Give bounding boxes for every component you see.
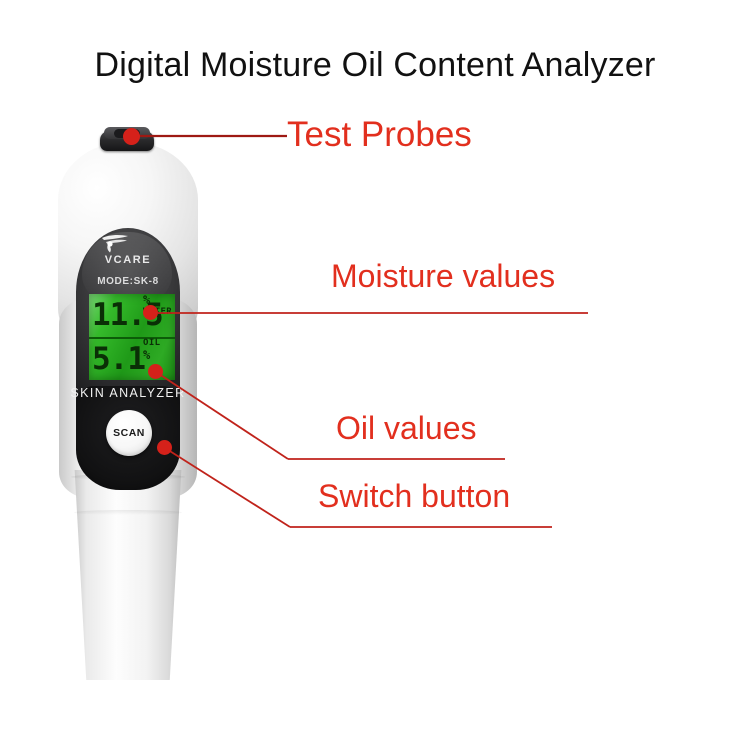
- skin-analyzer-label: SKIN ANALYZER: [68, 386, 188, 400]
- callout-label-oil-values: Oil values: [336, 410, 477, 447]
- callout-dot-switch: [157, 440, 172, 455]
- infographic-canvas: Digital Moisture Oil Content Analyzer VC…: [0, 0, 750, 750]
- lcd-oil-value: 5.1: [92, 340, 145, 378]
- device-mode-label: MODE:SK-8: [76, 276, 180, 287]
- scan-button-label: SCAN: [113, 427, 145, 439]
- callout-dot-moisture: [143, 305, 158, 320]
- handle-seam-lower: [74, 510, 182, 515]
- callout-dot-test-probes: [123, 128, 140, 145]
- callout-label-switch-button: Switch button: [318, 478, 510, 515]
- page-title: Digital Moisture Oil Content Analyzer: [0, 46, 750, 85]
- callout-label-test-probes: Test Probes: [287, 115, 472, 155]
- lcd-oil-units: OIL %: [143, 338, 173, 362]
- device-brand-name: VCARE: [76, 254, 180, 266]
- device-illustration: VCARE MODE:SK-8 11.5 % WATER 5.1 OIL % S…: [48, 118, 248, 678]
- callout-label-moisture-values: Moisture values: [331, 258, 555, 295]
- callout-dot-oil: [148, 364, 163, 379]
- scan-button[interactable]: SCAN: [106, 410, 152, 456]
- lcd-moisture-row: 11.5 % WATER: [89, 294, 175, 337]
- device-handle: [70, 470, 186, 680]
- vcare-wing-logo-icon: [98, 232, 132, 254]
- lcd-oil-percent: %: [143, 349, 173, 362]
